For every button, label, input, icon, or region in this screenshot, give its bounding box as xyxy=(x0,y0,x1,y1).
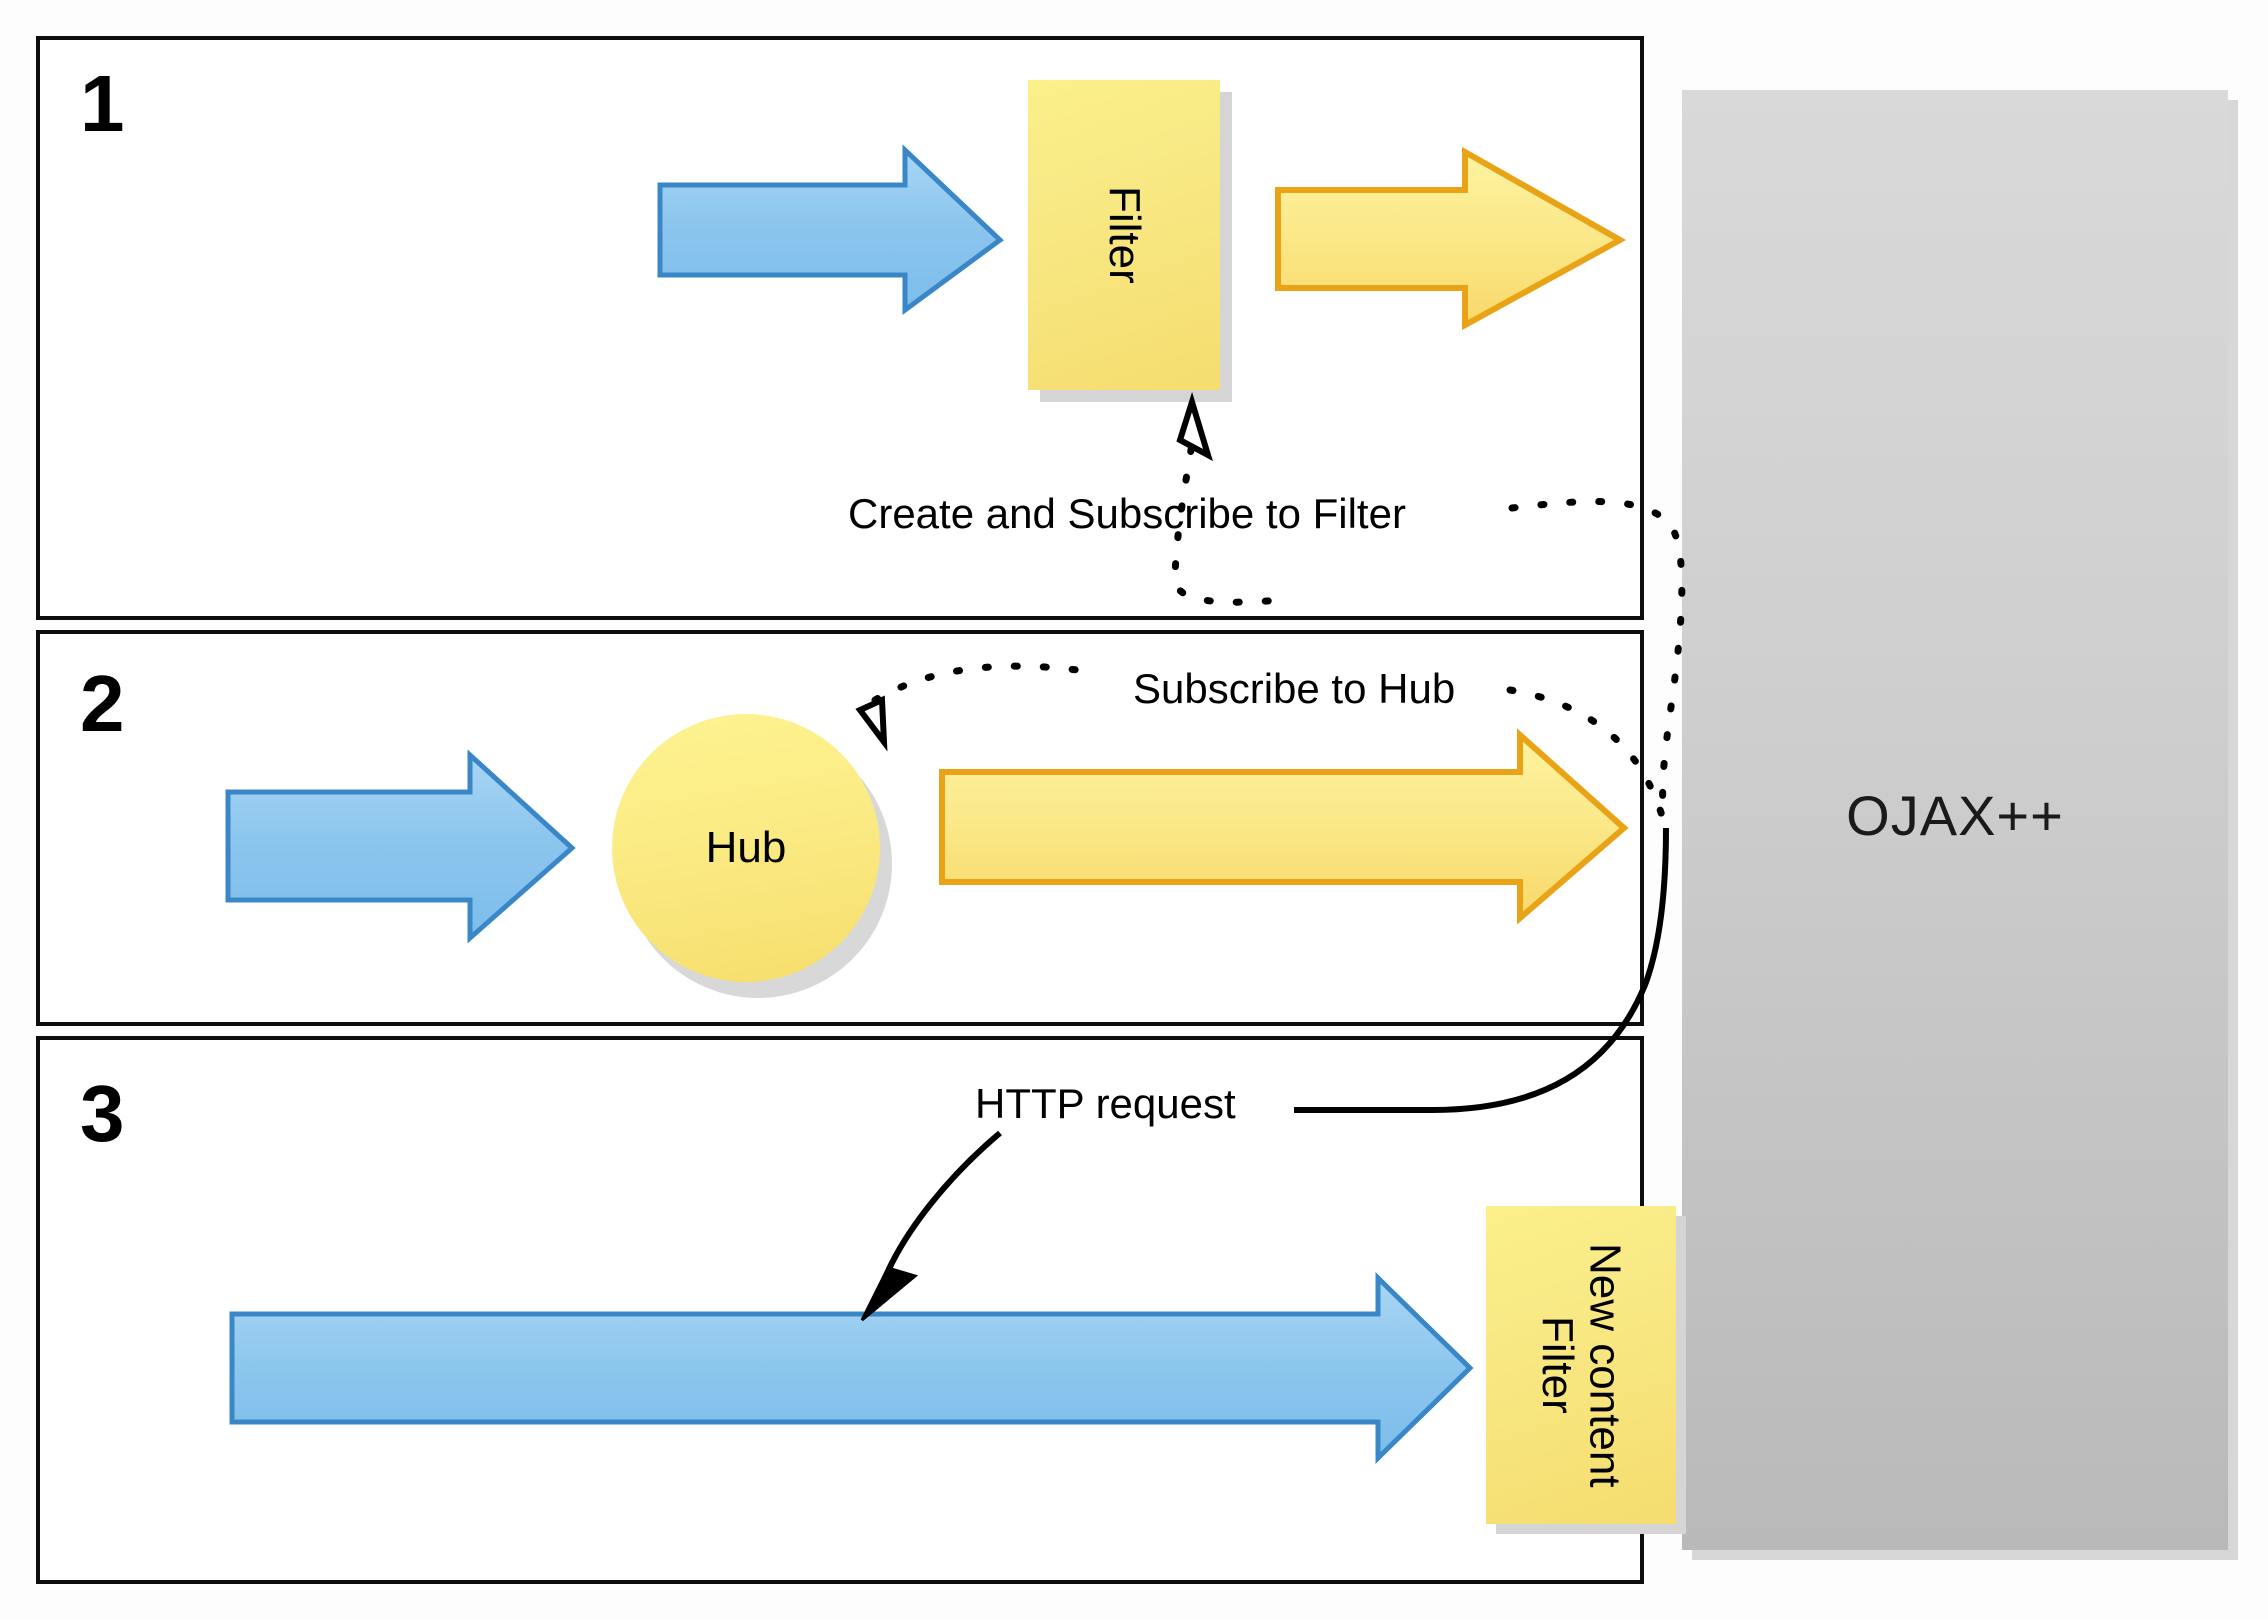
publisher-arrow-2 xyxy=(228,755,572,938)
publisher-feed-api-arrow xyxy=(232,1278,1470,1458)
http-request-down-arrow xyxy=(862,1133,1000,1320)
publisher-arrow-1 xyxy=(660,150,1000,310)
pubsubhubbub-feed-arrow xyxy=(942,735,1624,918)
create-subscribe-connector xyxy=(1175,402,1682,820)
diagram-vectors xyxy=(0,0,2268,1620)
diagram-canvas: OJAX++ 1 Filter Publisher Gnip feed Crea… xyxy=(0,0,2268,1620)
gnip-feed-arrow xyxy=(1278,152,1620,325)
